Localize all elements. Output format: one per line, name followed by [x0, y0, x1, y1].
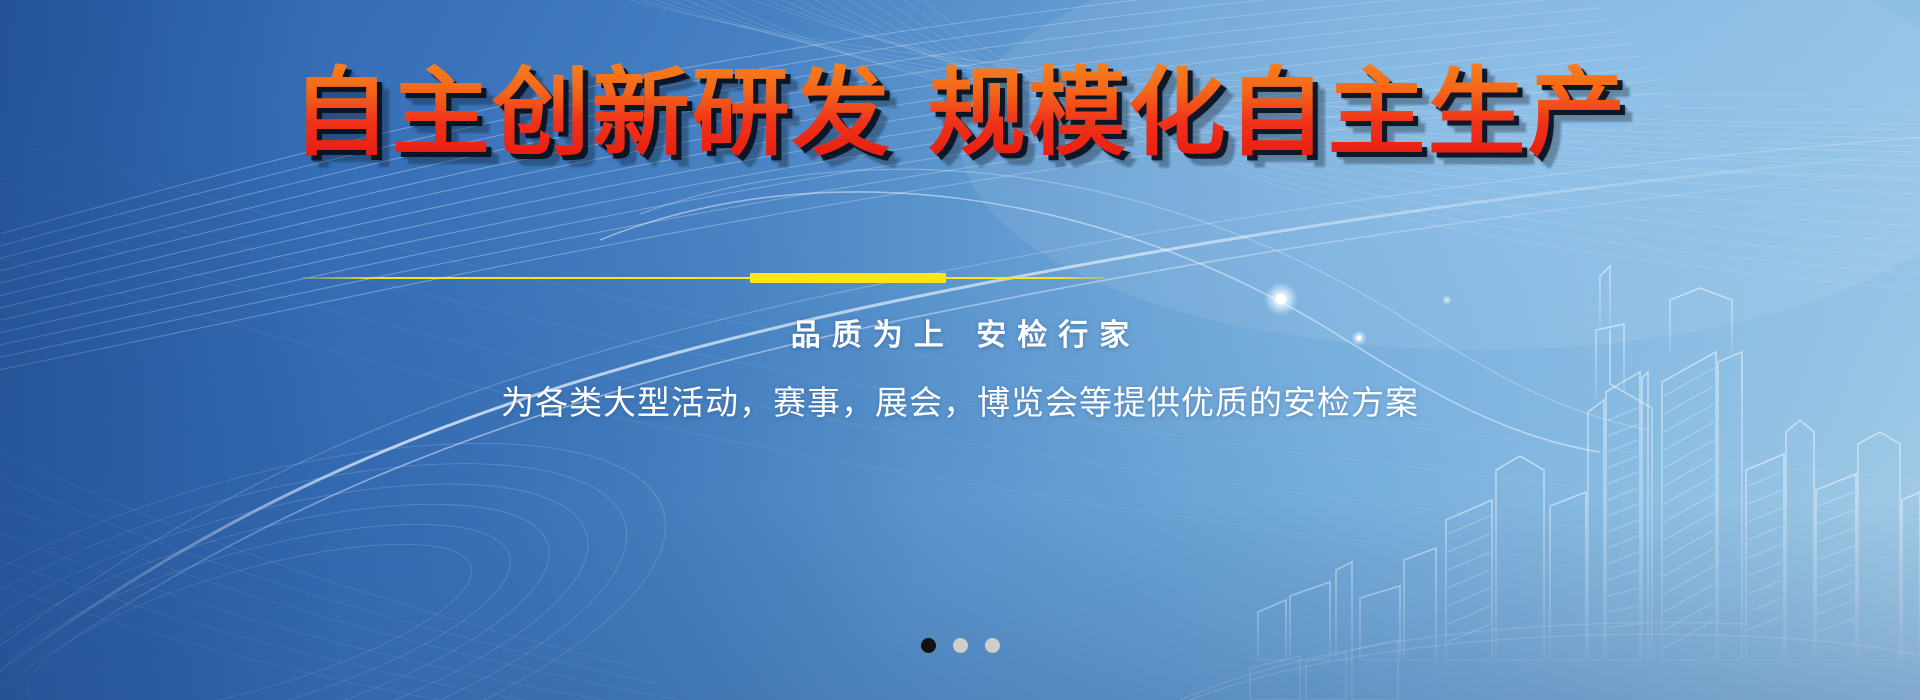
banner-subtitle-secondary: 为各类大型活动，赛事，展会，博览会等提供优质的安检方案 [0, 376, 1920, 424]
yellow-divider [303, 272, 1105, 284]
divider-thin-left [303, 277, 753, 279]
hero-banner: 自主创新研发 规模化自主生产 品质为上 安检行家 为各类大型活动，赛事，展会，博… [0, 0, 1920, 700]
carousel-dot-1[interactable] [921, 638, 936, 653]
banner-subtitle-primary: 品质为上 安检行家 [0, 310, 1920, 354]
carousel-dot-2[interactable] [953, 638, 968, 653]
bottom-vignette [0, 500, 1920, 700]
divider-thick-center [750, 273, 946, 283]
carousel-pagination[interactable] [0, 638, 1920, 653]
cityscape-decoration [1180, 208, 1920, 700]
banner-title-container: 自主创新研发 规模化自主生产 [0, 62, 1920, 166]
banner-subtitle-container: 品质为上 安检行家 为各类大型活动，赛事，展会，博览会等提供优质的安检方案 [0, 310, 1920, 424]
carousel-dot-3[interactable] [985, 638, 1000, 653]
divider-thin-right [944, 277, 1105, 279]
banner-main-title: 自主创新研发 规模化自主生产 [292, 62, 1628, 166]
